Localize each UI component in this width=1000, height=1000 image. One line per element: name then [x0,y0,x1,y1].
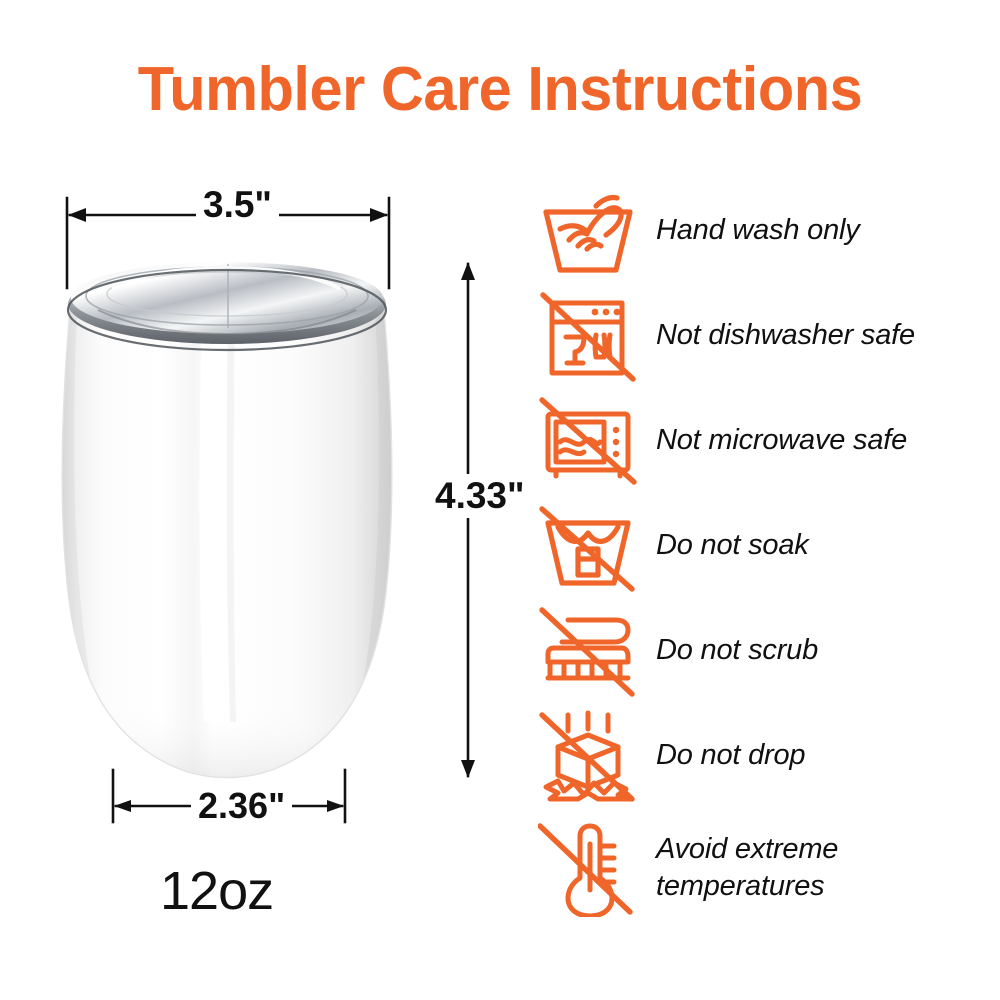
care-label-line-1: Avoid extreme [656,831,838,868]
care-label-hand-wash: Hand wash only [656,212,860,249]
care-instruction-list: Hand wash only Not dishwasher safe [536,178,988,928]
hand-wash-icon [536,181,640,281]
dimension-top-diameter: 3.5" [196,183,279,227]
care-row-no-scrub: Do not scrub [536,598,988,703]
care-row-no-extreme-temperature: Avoid extreme temperatures [536,808,988,928]
no-soak-icon [536,496,640,596]
care-label-no-dishwasher: Not dishwasher safe [656,317,915,354]
care-label-line-2: temperatures [656,868,838,905]
care-instructions-infographic: Tumbler Care Instructions [0,0,1000,1000]
care-row-no-soak: Do not soak [536,493,988,598]
care-row-no-drop: Do not drop [536,703,988,808]
care-label-no-soak: Do not soak [656,527,809,564]
care-row-no-dishwasher: Not dishwasher safe [536,283,988,388]
no-extreme-temperature-icon [536,818,640,918]
care-label-no-microwave: Not microwave safe [656,422,907,459]
page-title: Tumbler Care Instructions [20,54,980,126]
care-label-no-drop: Do not drop [656,737,805,774]
no-microwave-icon [536,391,640,491]
no-drop-box-icon [536,706,640,806]
no-scrub-brush-icon [536,601,640,701]
dimension-height: 4.33" [428,474,532,518]
care-row-no-microwave: Not microwave safe [536,388,988,493]
no-dishwasher-icon [536,286,640,386]
care-label-no-extreme-temperature: Avoid extreme temperatures [656,831,838,905]
care-row-hand-wash: Hand wash only [536,178,988,283]
capacity-label: 12oz [160,860,273,922]
care-label-no-scrub: Do not scrub [656,632,818,669]
dimension-base-diameter: 2.36" [191,785,292,827]
tumbler-product-image [52,252,402,792]
